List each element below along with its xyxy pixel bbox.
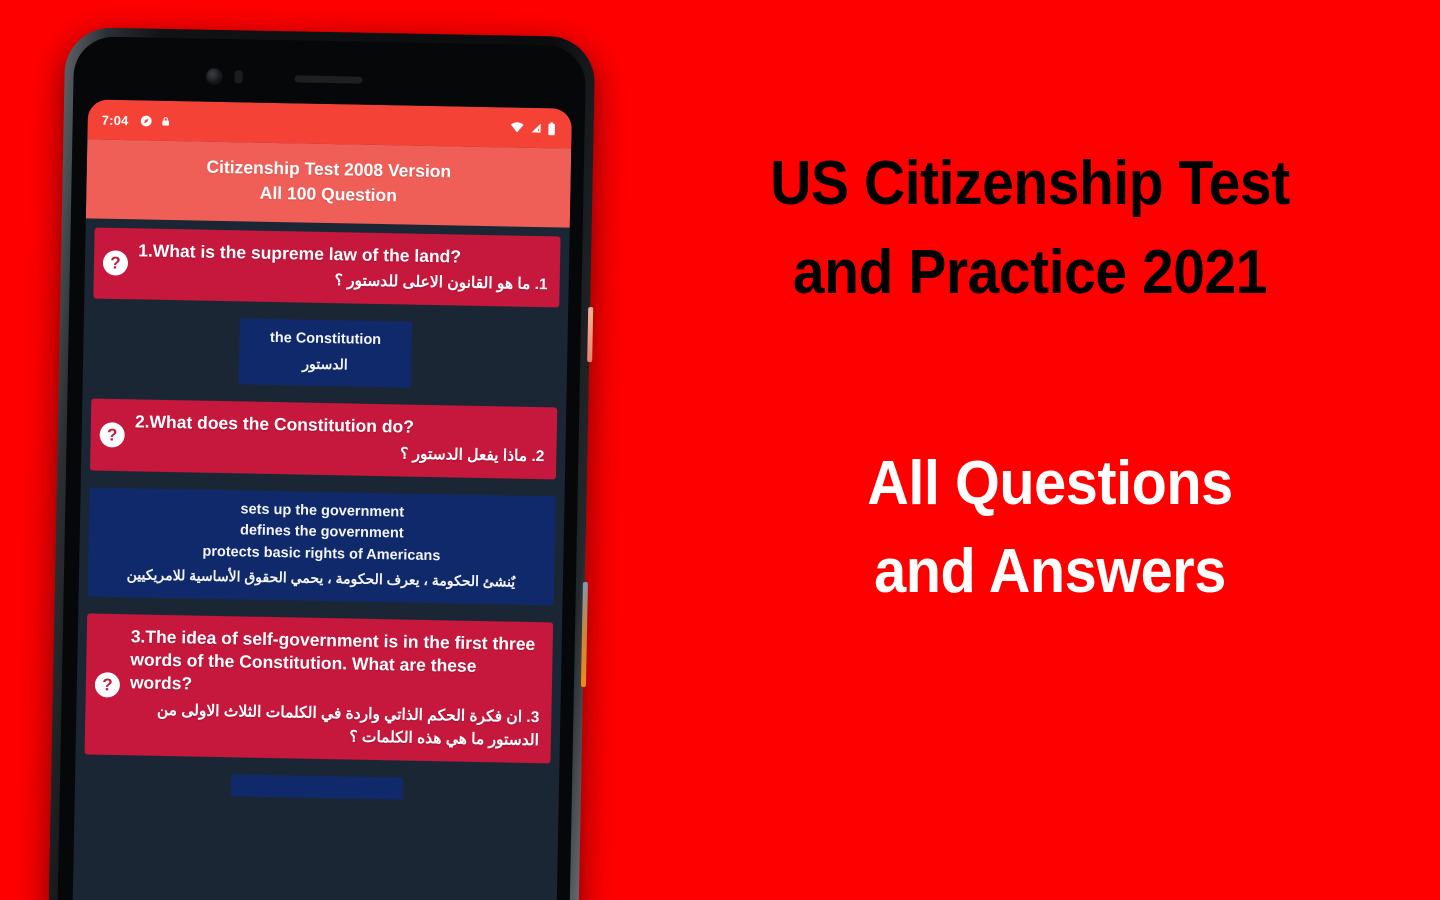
- question-mark-icon: ?: [95, 672, 120, 697]
- answer-text-en: the Constitution: [249, 328, 401, 352]
- answer-card[interactable]: the Constitution الدستور: [239, 319, 412, 388]
- battery-icon: [548, 122, 556, 135]
- wifi-icon: [510, 121, 525, 133]
- page-title: US Citizenship Test and Practice 2021: [690, 140, 1371, 317]
- question-card[interactable]: ? 2.What does the Constitution do? 2. ما…: [90, 399, 557, 479]
- app-bar: Citizenship Test 2008 Version All 100 Qu…: [86, 139, 571, 227]
- promo-text-block: US Citizenship Test and Practice 2021: [660, 140, 1400, 317]
- question-mark-icon: ?: [99, 422, 124, 447]
- earpiece-speaker-icon: [294, 75, 362, 83]
- phone-mockup: 7:04: [48, 27, 595, 900]
- question-text-ar: 1. ما هو القانون الاعلى للدستور ؟: [137, 265, 547, 296]
- volume-button[interactable]: [581, 582, 588, 687]
- question-mark-icon: ?: [103, 251, 128, 276]
- status-bar-left-icons: [139, 114, 170, 128]
- question-card[interactable]: ? 1.What is the supreme law of the land?…: [93, 227, 560, 307]
- promo-subtitle: All Questions and Answers: [725, 440, 1376, 616]
- proximity-sensor-icon: [234, 70, 242, 83]
- question-text-ar: 2. ماذا يفعل الدستور ؟: [134, 437, 544, 468]
- lock-icon: [160, 114, 170, 127]
- answer-text-en: [241, 781, 393, 784]
- power-button[interactable]: [587, 307, 593, 362]
- answer-text-ar: الدستور: [249, 351, 401, 377]
- question-text-ar: 3. ان فكرة الحكم الذاتي واردة في الكلمات…: [129, 698, 540, 752]
- status-bar-right-icons: [510, 121, 556, 135]
- question-card[interactable]: ? 3.The idea of self-government is in th…: [85, 613, 554, 763]
- question-text-en: 3.The idea of self-government is in the …: [130, 625, 541, 703]
- compass-icon: [139, 114, 152, 127]
- promo-banner: 7:04: [0, 0, 1440, 900]
- answer-card[interactable]: [231, 774, 403, 799]
- answer-text-en: sets up the government defines the gover…: [98, 497, 545, 570]
- signal-icon: [530, 122, 543, 134]
- status-bar-time: 7:04: [102, 112, 129, 128]
- answer-card[interactable]: sets up the government defines the gover…: [88, 487, 556, 605]
- phone-screen: 7:04: [72, 99, 572, 900]
- question-answer-list[interactable]: ? 1.What is the supreme law of the land?…: [75, 218, 570, 803]
